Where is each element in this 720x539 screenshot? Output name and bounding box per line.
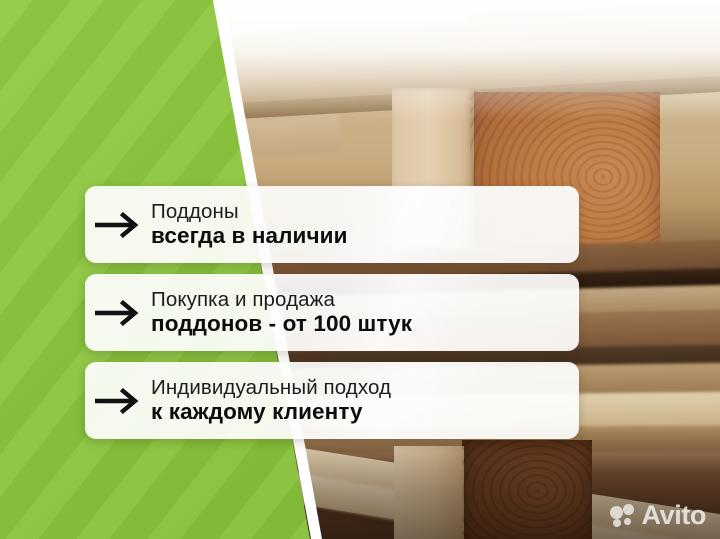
feature-card-text: Индивидуальный подход к каждому клиенту xyxy=(151,376,405,425)
feature-card-line-top: Поддоны xyxy=(151,200,348,223)
avito-watermark-label: Avito xyxy=(642,502,707,529)
arrow-right-icon xyxy=(85,300,151,326)
arrow-right-icon xyxy=(85,212,151,238)
avito-watermark: Avito xyxy=(610,502,707,529)
feature-card-line-bottom: к каждому клиенту xyxy=(151,399,391,424)
arrow-right-icon xyxy=(85,388,151,414)
feature-card-list: Поддоны всегда в наличии Покупка и прода… xyxy=(85,186,579,450)
feature-card-text: Поддоны всегда в наличии xyxy=(151,200,362,249)
feature-card: Покупка и продажа поддонов - от 100 штук xyxy=(85,274,579,351)
feature-card-line-bottom: всегда в наличии xyxy=(151,223,348,248)
feature-card-text: Покупка и продажа поддонов - от 100 штук xyxy=(151,288,426,337)
avito-dots-icon xyxy=(610,504,636,528)
feature-card-line-top: Индивидуальный подход xyxy=(151,376,391,399)
feature-card: Поддоны всегда в наличии xyxy=(85,186,579,263)
advertisement-banner: Поддоны всегда в наличии Покупка и прода… xyxy=(0,0,720,539)
feature-card-line-bottom: поддонов - от 100 штук xyxy=(151,311,412,336)
feature-card: Индивидуальный подход к каждому клиенту xyxy=(85,362,579,439)
feature-card-line-top: Покупка и продажа xyxy=(151,288,412,311)
